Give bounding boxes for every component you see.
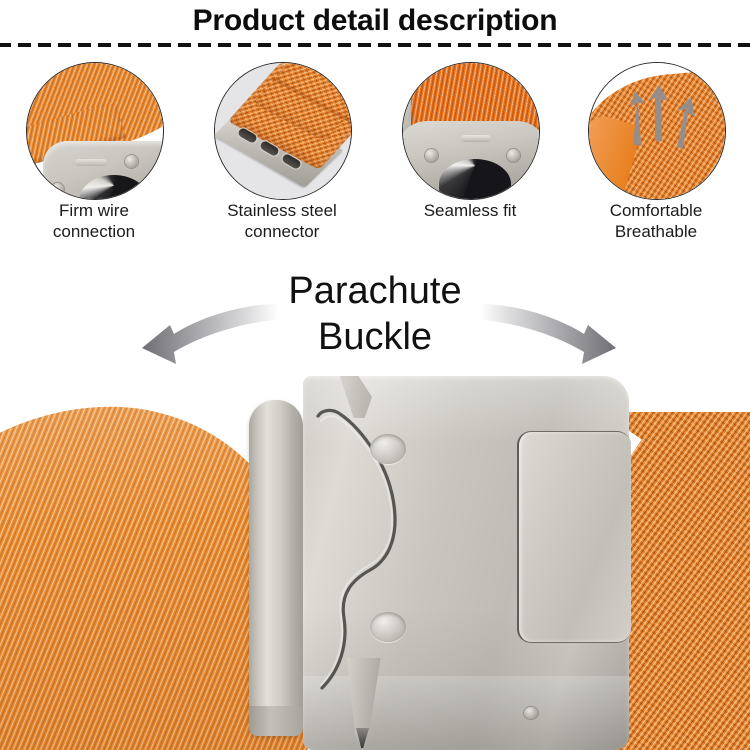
feature-firm-wire-connection: Firm wire connection [0,60,188,250]
caption-line: Firm wire [0,200,188,221]
caption-line: Breathable [562,221,750,242]
caption-line: connector [188,221,376,242]
feature-seamless-fit: Seamless fit [376,60,564,250]
screw-icon [125,155,138,168]
caption-line: Seamless fit [376,200,564,221]
pivot-screw [524,707,538,719]
curved-arrow-right-icon [478,298,618,368]
hero-label: Parachute Buckle [0,268,750,360]
hero-buckle-photo [0,376,750,750]
screw-icon [425,149,438,162]
hero-label-line: Parachute [0,268,750,314]
screw-icon [507,149,520,162]
page-title: Product detail description [0,3,750,39]
case-button [75,159,107,166]
caption-line: connection [0,221,188,242]
dashed-divider [0,43,750,47]
feature-caption-4: Comfortable Breathable [562,200,750,242]
feature-thumbnail-2 [214,62,352,200]
screw-icon [51,183,64,196]
case-button [461,135,491,142]
feature-caption-3: Seamless fit [376,200,564,221]
release-button[interactable] [517,431,631,643]
caption-line: Stainless steel [188,200,376,221]
feature-thumbnail-1 [26,62,164,200]
caption-line: Comfortable [562,200,750,221]
upper-oval-hole [370,434,406,464]
feature-comfortable-breathable: Comfortable Breathable [562,60,750,250]
feature-stainless-steel-connector: Stainless steel connector [188,60,376,250]
airflow-arrows-icon [589,63,725,199]
product-detail-image: Product detail description Firm wire [0,0,750,750]
curved-arrow-left-icon [140,298,280,368]
feature-row: Firm wire connection Stainless ste [0,60,750,250]
feature-thumbnail-4 [588,62,726,200]
feature-thumbnail-3 [402,62,540,200]
strap-keeper [249,400,303,736]
hero-label-line: Buckle [0,314,750,360]
feature-caption-1: Firm wire connection [0,200,188,242]
lower-oval-hole [370,612,406,642]
feature-caption-2: Stainless steel connector [188,200,376,242]
strap-keeper-base [249,706,303,736]
